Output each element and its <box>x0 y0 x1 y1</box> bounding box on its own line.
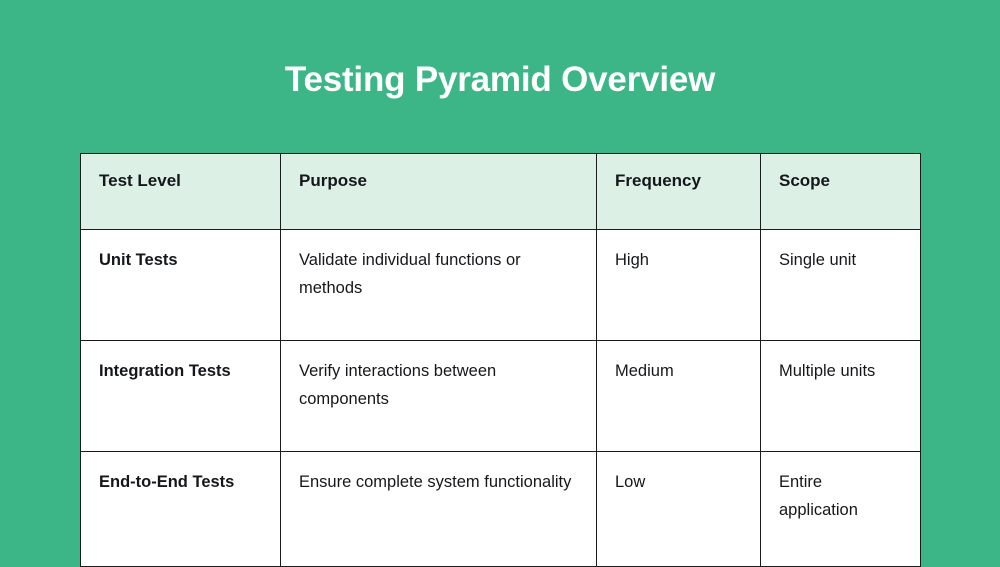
cell-purpose: Verify interactions between components <box>281 341 597 452</box>
column-header-frequency: Frequency <box>597 154 761 230</box>
page-root: Testing Pyramid Overview Test Level Purp… <box>0 0 1000 499</box>
table-row: Unit Tests Validate individual functions… <box>81 230 921 341</box>
column-header-scope: Scope <box>761 154 921 230</box>
cell-test-level: Unit Tests <box>81 230 281 341</box>
cell-scope: Multiple units <box>761 341 921 452</box>
cell-test-level: End-to-End Tests <box>81 452 281 567</box>
cell-test-level: Integration Tests <box>81 341 281 452</box>
cell-scope: Single unit <box>761 230 921 341</box>
table-header-row: Test Level Purpose Frequency Scope <box>81 154 921 230</box>
testing-pyramid-table: Test Level Purpose Frequency Scope Unit … <box>80 153 921 567</box>
cell-frequency: Medium <box>597 341 761 452</box>
testing-pyramid-table-container: Test Level Purpose Frequency Scope Unit … <box>80 153 920 567</box>
cell-frequency: High <box>597 230 761 341</box>
cell-purpose: Validate individual functions or methods <box>281 230 597 341</box>
cell-frequency: Low <box>597 452 761 567</box>
table-body: Unit Tests Validate individual functions… <box>81 230 921 567</box>
cell-scope: Entire application <box>761 452 921 567</box>
page-title: Testing Pyramid Overview <box>0 58 1000 102</box>
table-header: Test Level Purpose Frequency Scope <box>81 154 921 230</box>
table-row: Integration Tests Verify interactions be… <box>81 341 921 452</box>
cell-purpose: Ensure complete system functionality <box>281 452 597 567</box>
column-header-purpose: Purpose <box>281 154 597 230</box>
column-header-test-level: Test Level <box>81 154 281 230</box>
table-row: End-to-End Tests Ensure complete system … <box>81 452 921 567</box>
